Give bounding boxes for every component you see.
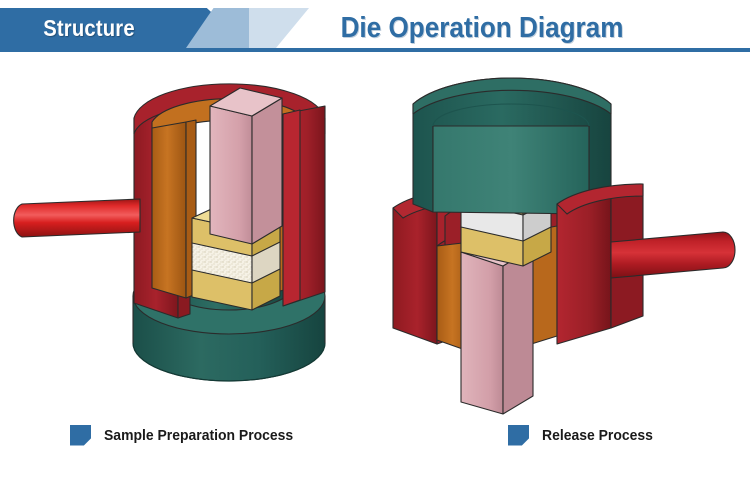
legend: Sample Preparation Process Release Proce…: [0, 418, 750, 458]
diagram-release-process: [375, 56, 750, 416]
legend-item-label: Release Process: [542, 427, 653, 444]
left-die-assembly: [14, 84, 325, 381]
header-divider-rule: [0, 48, 750, 52]
right-die-assembly: [393, 78, 735, 414]
legend-item-label: Sample Preparation Process: [104, 427, 293, 444]
upper-punch: [210, 88, 282, 244]
diagram-area: [0, 56, 750, 416]
die-handle: [14, 199, 140, 237]
inner-sleeve-left: [152, 120, 196, 298]
die-body-right: [283, 106, 325, 306]
legend-item-sample-preparation: Sample Preparation Process: [70, 424, 307, 446]
die-operation-diagram-page: Structure Die Operation Diagram: [0, 0, 750, 483]
legend-swatch-icon: [508, 425, 529, 446]
page-title: Die Operation Diagram: [293, 8, 671, 48]
legend-swatch-icon: [70, 425, 91, 446]
header-tab-badge: Structure: [0, 8, 178, 48]
header-tab-label: Structure: [11, 8, 168, 48]
diagram-sample-preparation: [0, 56, 380, 416]
legend-item-release: Release Process: [508, 424, 661, 446]
page-header: Structure Die Operation Diagram: [0, 0, 750, 56]
